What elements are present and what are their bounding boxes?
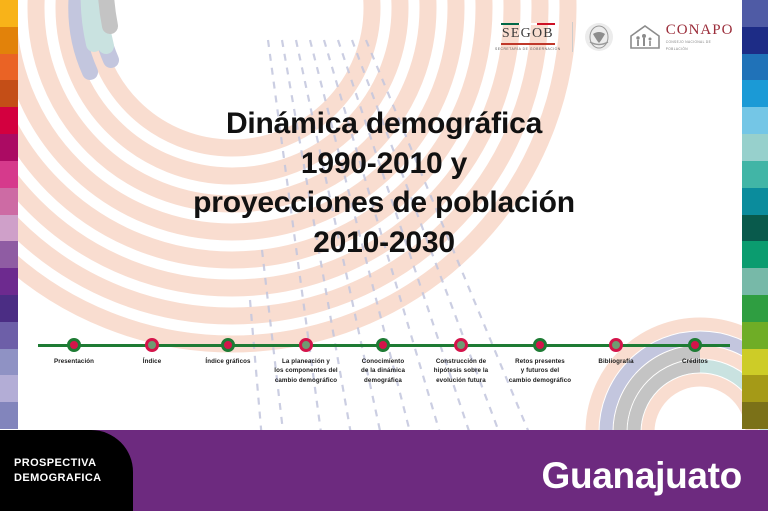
conapo-word: CONAPO [666,23,734,38]
timeline-node-9[interactable]: Créditos [635,330,755,366]
segob-word: SEGOB [502,27,554,41]
mexico-coat-of-arms-icon [584,22,614,52]
right-strip-band-12 [742,295,768,322]
conapo-logo: CONAPO CONSEJO NACIONAL DE POBLACIÓN [628,23,734,51]
mexican-flag-icon [501,23,555,25]
left-strip-band-12 [0,295,18,322]
badge-line-2: DEMOGRAFICA [14,471,133,486]
left-strip-band-1 [0,0,18,27]
segob-subtitle: SECRETARÍA DE GOBERNACIÓN [495,47,561,51]
prospectiva-demografica-badge: PROSPECTIVA DEMOGRAFICA [0,430,133,511]
timeline-node-dot-icon[interactable] [688,338,702,352]
right-strip-band-1 [742,0,768,27]
navigation-timeline: PresentaciónÍndiceÍndice gráficosLa plan… [0,330,768,410]
title-line-1: Dinámica demográfica [0,104,768,144]
logo-group: SEGOB SECRETARÍA DE GOBERNACIÓN [495,22,733,52]
left-strip-band-11 [0,268,18,295]
logo-divider [572,22,573,52]
right-strip-band-3 [742,54,768,81]
left-strip-band-2 [0,27,18,54]
segob-logo: SEGOB SECRETARÍA DE GOBERNACIÓN [495,22,614,52]
left-strip-band-3 [0,54,18,81]
timeline-node-label: Créditos [635,357,755,366]
title-line-4: 2010-2030 [0,223,768,263]
timeline-node-dot-icon[interactable] [533,338,547,352]
conapo-subtitle-line1: CONSEJO NACIONAL DE [666,40,734,44]
timeline-node-dot-icon[interactable] [299,338,313,352]
right-strip-band-2 [742,27,768,54]
segob-underline [501,43,555,45]
conapo-house-icon [628,23,662,51]
badge-line-1: PROSPECTIVA [14,456,133,471]
timeline-node-dot-icon[interactable] [145,338,159,352]
segob-wordmark: SEGOB SECRETARÍA DE GOBERNACIÓN [495,23,561,51]
state-name: Guanajuato [541,455,742,497]
slide-root: SEGOB SECRETARÍA DE GOBERNACIÓN [0,0,768,511]
timeline-node-dot-icon[interactable] [221,338,235,352]
timeline-node-dot-icon[interactable] [67,338,81,352]
conapo-subtitle-line2: POBLACIÓN [666,47,734,51]
conapo-wordmark: CONAPO CONSEJO NACIONAL DE POBLACIÓN [666,23,734,51]
timeline-node-dot-icon[interactable] [454,338,468,352]
title-line-2: 1990-2010 y [0,144,768,184]
title-line-3: proyecciones de población [0,183,768,223]
timeline-node-dot-icon[interactable] [609,338,623,352]
right-strip-band-11 [742,268,768,295]
page-title: Dinámica demográfica1990-2010 yproyeccio… [0,104,768,262]
timeline-node-dot-icon[interactable] [376,338,390,352]
